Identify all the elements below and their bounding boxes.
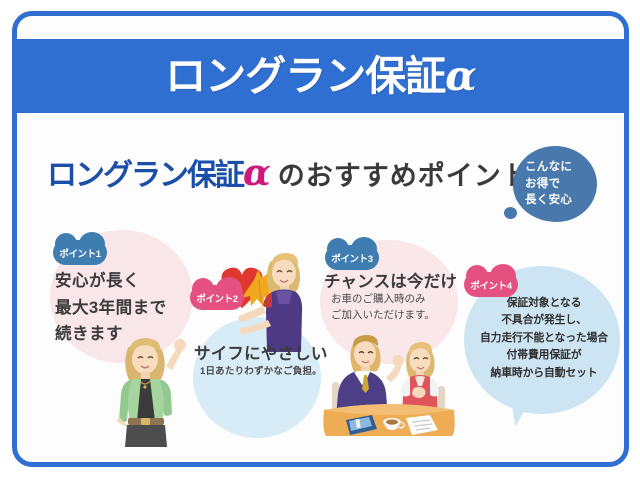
top-speech-bubble: こんなに お得で 長く安心 (513, 146, 597, 222)
point-3-heading: チャンスは今だけ (324, 268, 457, 292)
top-bubble-line-2: お得で (525, 176, 597, 193)
point-1-heading-line-1: 安心が長く (55, 268, 167, 295)
point-2-heading-line-1: サイフにやさしい (194, 345, 328, 363)
point-1-heading-line-3: 続きます (55, 321, 167, 348)
point-2-subtext: 1日あたりわずかなご負担。 (200, 363, 322, 377)
point-3-badge: ポイント3 (325, 245, 379, 270)
point-2-heading: サイフにやさしい (194, 340, 328, 364)
title-banner: ロングラン保証α (12, 39, 629, 113)
woman-green-cardigan-illustration (108, 330, 186, 452)
top-bubble-line-3: 長く安心 (525, 192, 597, 209)
banner-title: ロングラン保証α (165, 56, 476, 97)
point-4-heading-line-5: 納車時から自動セット (468, 365, 620, 382)
point-3-heading-line-1: チャンスは今だけ (324, 273, 457, 291)
point-4-heading-line-2: 不具合が発生し、 (468, 312, 620, 329)
speech-bubble-dot (504, 207, 517, 219)
banner-title-text: ロングラン保証 (165, 53, 445, 99)
point-2-badge-label: ポイント2 (196, 291, 237, 305)
point-1-badge: ポイント1 (53, 240, 107, 265)
point-2-badge: ポイント2 (190, 285, 244, 310)
point-3-badge-label: ポイント3 (331, 251, 372, 265)
point-2-subtext-line-1: 1日あたりわずかなご負担。 (200, 366, 322, 377)
banner-title-alpha: α (445, 52, 476, 100)
point-4-badge: ポイント4 (464, 272, 518, 297)
headline-brand: ロングラン保証 (47, 159, 243, 192)
point-4-heading-line-1: 保証対象となる (468, 295, 620, 312)
point-3-subtext-line-2: ご加入いただけます。 (331, 307, 435, 323)
point-3-subtext-line-1: お車のご購入時のみ (331, 291, 435, 307)
point-3-subtext: お車のご購入時のみ ご加入いただけます。 (331, 291, 435, 324)
couple-at-table-illustration (316, 330, 462, 438)
headline-alpha: α (243, 152, 271, 194)
top-bubble-line-1: こんなに (525, 159, 597, 176)
point-4-heading-line-3: 自力走行不能となった場合 (468, 330, 620, 347)
point-4-heading: 保証対象となる 不具合が発生し、 自力走行不能となった場合 付帯費用保証が 納車… (468, 295, 620, 382)
point-4-heading-line-4: 付帯費用保証が (468, 347, 620, 364)
page-headline: ロングラン保証αのおすすめポイント (47, 155, 530, 191)
point-4-badge-label: ポイント4 (470, 278, 511, 292)
advertisement-slide: ロングラン保証α ロングラン保証αのおすすめポイント こんなに お得で 長く安心… (0, 0, 640, 480)
point-1-heading-line-2: 最大3年間まで (55, 295, 167, 322)
point-1-heading: 安心が長く 最大3年間まで 続きます (55, 268, 167, 348)
headline-tail: のおすすめポイント (278, 161, 530, 191)
point-1-badge-label: ポイント1 (59, 246, 100, 260)
